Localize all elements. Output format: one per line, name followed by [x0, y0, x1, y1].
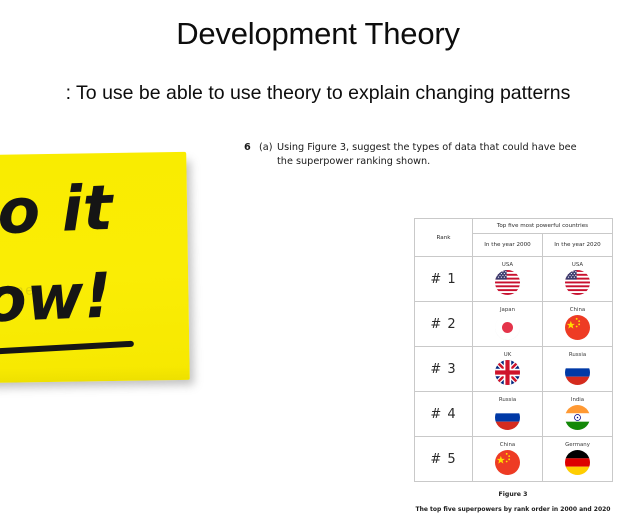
country-cell-2020: China: [543, 302, 613, 347]
country-cell-2000: USA: [473, 257, 543, 302]
flag-icon-russia: [495, 405, 520, 430]
country-cell-2000: UK: [473, 347, 543, 392]
country-name: India: [543, 398, 612, 403]
country-cell-2020: Germany: [543, 437, 613, 482]
flag-icon-germany: [565, 450, 590, 475]
country-cell-2020: USA: [543, 257, 613, 302]
sticky-note-text: Do it dreamstime Now!: [0, 150, 190, 386]
figure-label: Figure 3: [414, 491, 612, 498]
figure-caption: Figure 3 The top five superpowers by ran…: [414, 491, 612, 513]
figure-description: The top five superpowers by rank order i…: [414, 506, 612, 513]
flag-icon-uk: [495, 360, 520, 385]
column-header-year-2000: In the year 2000: [473, 234, 543, 257]
column-header-rank: Rank: [415, 219, 473, 257]
question-text-line-1: Using Figure 3, suggest the types of dat…: [277, 142, 577, 153]
country-cell-2000: Japan: [473, 302, 543, 347]
rank-value: # 2: [415, 302, 473, 347]
learning-objective-subtitle: : To use be able to use theory to explai…: [0, 82, 636, 105]
superpower-ranking-table: Rank Top five most powerful countries In…: [414, 218, 613, 482]
column-header-group: Top five most powerful countries: [473, 219, 613, 234]
question-part-letter: (a): [259, 141, 277, 155]
country-cell-2000: China: [473, 437, 543, 482]
flag-icon-india: [565, 405, 590, 430]
table-row: # 5 China Germany: [415, 437, 613, 482]
flag-icon-china: [495, 450, 520, 475]
flag-icon-russia: [565, 360, 590, 385]
rank-value: # 5: [415, 437, 473, 482]
flag-icon-japan: [495, 315, 520, 340]
country-name: Japan: [473, 308, 542, 313]
table-header-row-1: Rank Top five most powerful countries: [415, 219, 613, 234]
rank-value: # 4: [415, 392, 473, 437]
rank-value: # 1: [415, 257, 473, 302]
flag-icon-china: [565, 315, 590, 340]
country-name: China: [473, 443, 542, 448]
country-cell-2020: Russia: [543, 347, 613, 392]
question-text-line-2: the superpower ranking shown.: [277, 156, 430, 167]
question-number: 6: [244, 141, 259, 155]
table-row: # 1 USA: [415, 257, 613, 302]
sticky-note: Do it dreamstime Now!: [0, 150, 190, 386]
country-name: UK: [473, 353, 542, 358]
sticky-note-line-1: Do it: [0, 177, 114, 245]
rank-value: # 3: [415, 347, 473, 392]
country-name: Russia: [543, 353, 612, 358]
table-row: # 2 Japan China: [415, 302, 613, 347]
flag-icon-usa: [495, 270, 520, 295]
table-row: # 4 Russia India: [415, 392, 613, 437]
country-name: Germany: [543, 443, 612, 448]
country-name: Russia: [473, 398, 542, 403]
table-row: # 3 UK Russia: [415, 347, 613, 392]
sticky-note-underline: [0, 341, 134, 358]
country-cell-2000: Russia: [473, 392, 543, 437]
country-name: USA: [473, 263, 542, 268]
page-title: Development Theory: [0, 16, 636, 52]
exam-question: 6 (a) Using Figure 3, suggest the types …: [244, 141, 636, 169]
flag-icon-usa: [565, 270, 590, 295]
column-header-year-2020: In the year 2020: [543, 234, 613, 257]
figure-3: Rank Top five most powerful countries In…: [414, 218, 612, 513]
country-cell-2020: India: [543, 392, 613, 437]
sticky-note-line-2: Now!: [0, 265, 113, 334]
country-name: USA: [543, 263, 612, 268]
country-name: China: [543, 308, 612, 313]
